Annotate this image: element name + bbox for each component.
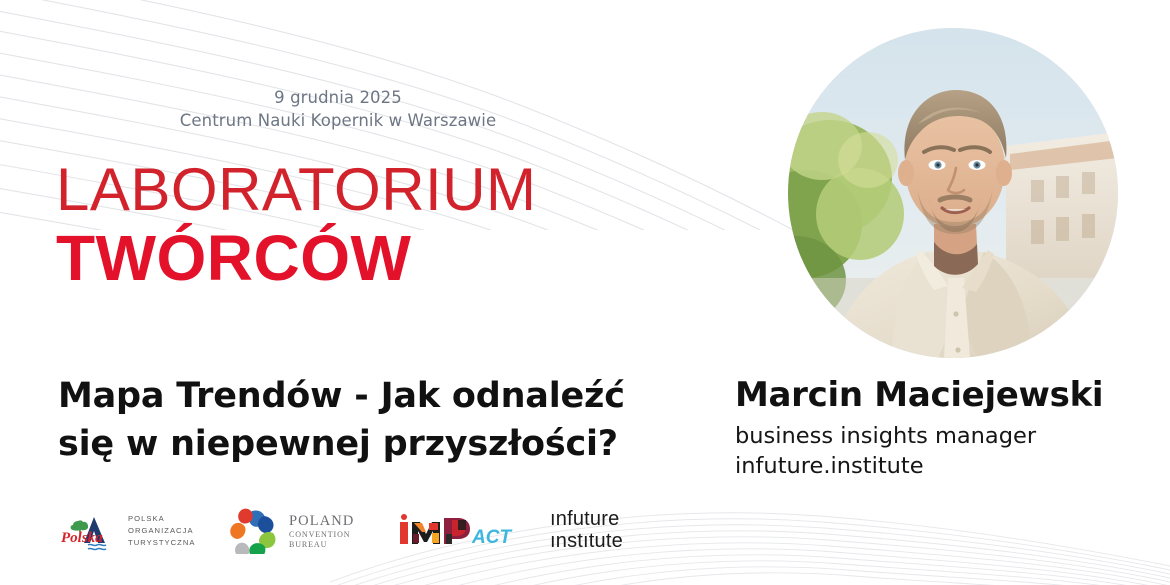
speaker-info: Marcin Maciejewski business insights man… — [735, 376, 1155, 482]
brand-line-laboratorium: LABORATORIUM — [56, 158, 537, 222]
brand-line-tworcow: TWÓRCÓW — [56, 222, 537, 294]
pcb-flower-mark — [230, 508, 280, 554]
pot-line-3: TURYSTYCZNA — [128, 537, 196, 549]
sponsor-logo-polska-organizacja-turystyczna: Polska POLSKA ORGANIZACJA TURYSTYCZNA — [58, 501, 230, 561]
sponsor-logo-poland-convention-bureau: POLAND CONVENTION BUREAU — [230, 501, 390, 561]
pot-line-2: ORGANIZACJA — [128, 525, 196, 537]
impact-logo-mark: ACT — [396, 510, 526, 552]
pcb-line-1: POLAND — [289, 512, 354, 530]
pcb-line-2: CONVENTION — [289, 530, 354, 540]
pot-line-1: POLSKA — [128, 513, 196, 525]
polska-logo-text: POLSKA ORGANIZACJA TURYSTYCZNA — [128, 513, 196, 550]
sponsor-logo-infuture-institute: ınfuture ınstıtute — [550, 501, 680, 561]
svg-text:ACT: ACT — [471, 527, 512, 548]
talk-title-line-1: Mapa Trendów - Jak odnaleźć — [58, 372, 698, 420]
sponsor-logo-row: Polska POLSKA ORGANIZACJA TURYSTYCZNA — [58, 500, 680, 562]
speaker-organization: infuture.institute — [735, 452, 1155, 482]
infuture-line-1: ınfuture — [550, 509, 623, 531]
presentation-slide: 9 grudnia 2025 Centrum Nauki Kopernik w … — [0, 0, 1170, 585]
svg-text:Polska: Polska — [61, 530, 103, 546]
event-venue: Centrum Nauki Kopernik w Warszawie — [58, 109, 618, 132]
talk-title: Mapa Trendów - Jak odnaleźć się w niepew… — [58, 372, 698, 469]
portrait-photo — [788, 28, 1118, 358]
event-date: 9 grudnia 2025 — [58, 86, 618, 109]
speaker-portrait — [788, 28, 1118, 358]
infuture-line-2: ınstıtute — [550, 531, 623, 553]
pcb-line-3: BUREAU — [289, 540, 354, 550]
sponsor-logo-impact: ACT — [396, 501, 536, 561]
speaker-name: Marcin Maciejewski — [735, 376, 1155, 416]
event-meta: 9 grudnia 2025 Centrum Nauki Kopernik w … — [58, 86, 618, 133]
talk-title-line-2: się w niepewnej przyszłości? — [58, 420, 698, 468]
infuture-logo-text: ınfuture ınstıtute — [550, 509, 623, 552]
brand-wordmark: LABORATORIUM TWÓRCÓW — [56, 158, 537, 294]
speaker-role: business insights manager — [735, 422, 1155, 452]
polska-logo-mark: Polska — [58, 509, 120, 553]
pcb-logo-text: POLAND CONVENTION BUREAU — [289, 512, 354, 551]
